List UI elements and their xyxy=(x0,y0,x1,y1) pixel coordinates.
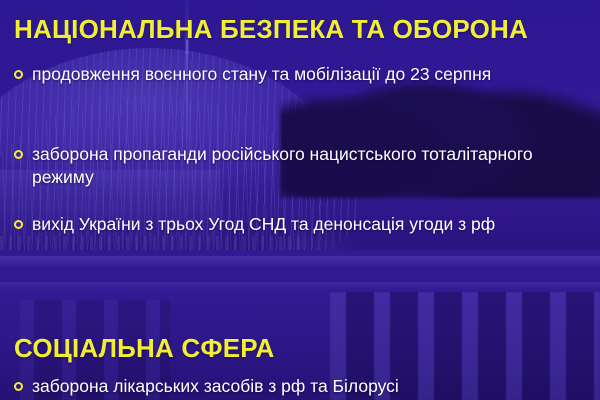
list-item: продовження воєнного стану та мобілізаці… xyxy=(14,63,491,86)
bullet-ring-icon xyxy=(14,70,23,79)
section-heading-national-security: НАЦІОНАЛЬНА БЕЗПЕКА ТА ОБОРОНА xyxy=(14,14,528,45)
list-item: заборона лікарських засобів з рф та Біло… xyxy=(14,375,399,398)
list-item: заборона пропаганди російського нацистсь… xyxy=(14,143,594,189)
list-item-text: заборона пропаганди російського нацистсь… xyxy=(32,143,594,189)
infographic-slide: НАЦІОНАЛЬНА БЕЗПЕКА ТА ОБОРОНА продовжен… xyxy=(0,0,600,400)
list-item-text: продовження воєнного стану та мобілізаці… xyxy=(32,63,491,86)
bullet-ring-icon xyxy=(14,382,23,391)
bullet-ring-icon xyxy=(14,220,23,229)
list-item-text: вихід України з трьох Угод СНД та денонс… xyxy=(32,213,495,236)
slide-content: НАЦІОНАЛЬНА БЕЗПЕКА ТА ОБОРОНА продовжен… xyxy=(0,0,600,400)
section-heading-social-sphere: СОЦІАЛЬНА СФЕРА xyxy=(14,333,275,364)
list-item: вихід України з трьох Угод СНД та денонс… xyxy=(14,213,495,236)
bullet-ring-icon xyxy=(14,150,23,159)
list-item-text: заборона лікарських засобів з рф та Біло… xyxy=(32,375,399,398)
